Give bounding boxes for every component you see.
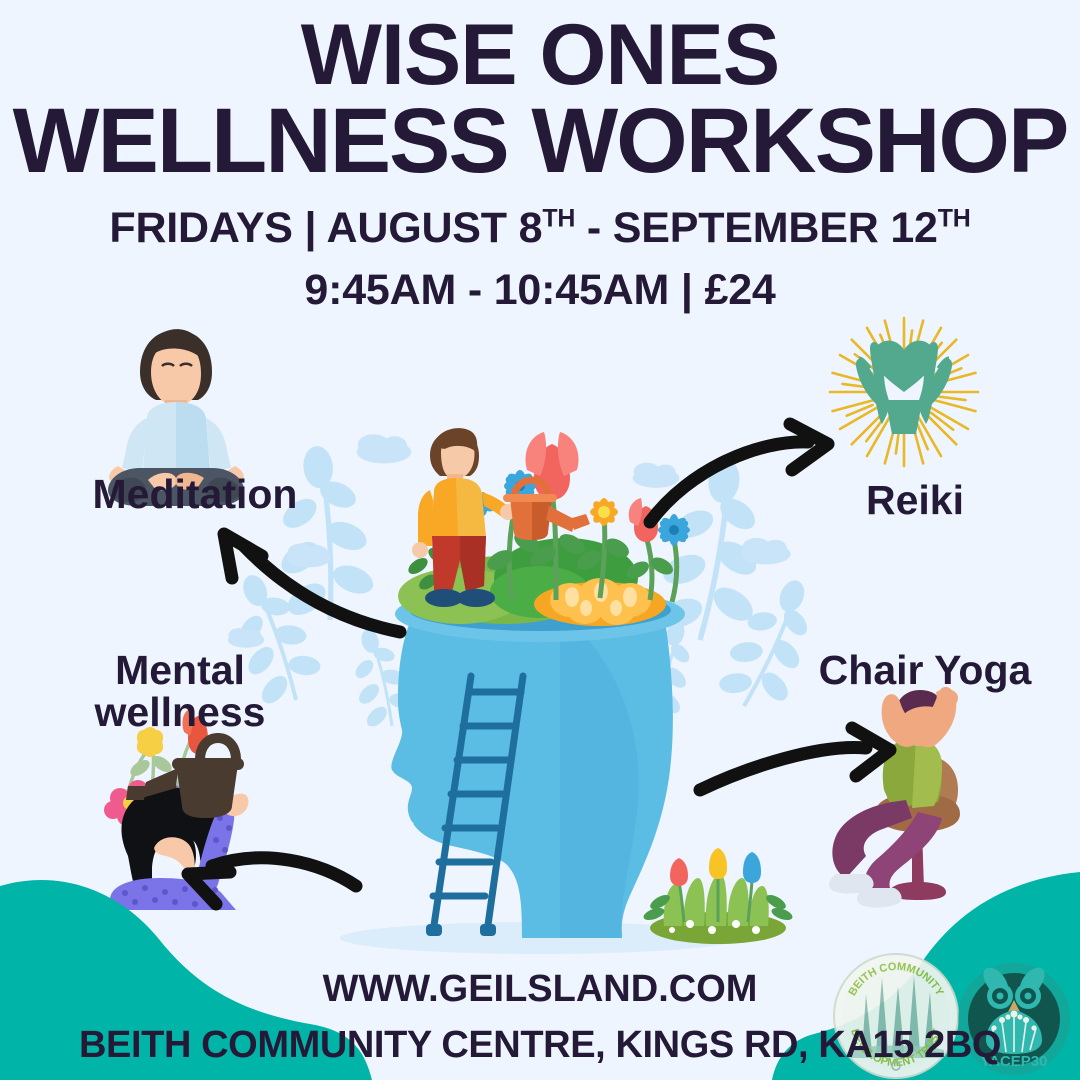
title-line-1: WISE ONES xyxy=(0,14,1080,97)
schedule-sup-2: TH xyxy=(938,205,971,233)
category-label-reiki: Reiki xyxy=(790,480,1040,522)
schedule-sup-1: TH xyxy=(542,205,575,233)
page-title: WISE ONES WELLNESS WORKSHOP xyxy=(0,14,1080,185)
schedule-mid: - SEPTEMBER 12 xyxy=(575,204,938,252)
category-label-chair-yoga: Chair Yoga xyxy=(780,650,1070,692)
schedule-days: FRIDAYS | AUGUST 8 xyxy=(109,204,542,252)
poster-canvas: BEITH COMMUNITY DEVELOPMENT TRUST xyxy=(0,0,1080,1080)
footer-address: BEITH COMMUNITY CENTRE, KINGS RD, KA15 2… xyxy=(0,1024,1080,1067)
title-line-2: WELLNESS WORKSHOP xyxy=(0,97,1080,185)
schedule-time-price: 9:45AM - 10:45AM | £24 xyxy=(0,266,1080,315)
schedule-dates: FRIDAYS | AUGUST 8TH - SEPTEMBER 12TH xyxy=(0,204,1080,253)
category-label-mental-wellness: Mental wellness xyxy=(35,650,325,734)
category-label-meditation: Meditation xyxy=(40,474,350,516)
healing-hands-heart-icon xyxy=(830,318,978,466)
footer-website[interactable]: WWW.GEILSLAND.COM xyxy=(0,968,1080,1011)
